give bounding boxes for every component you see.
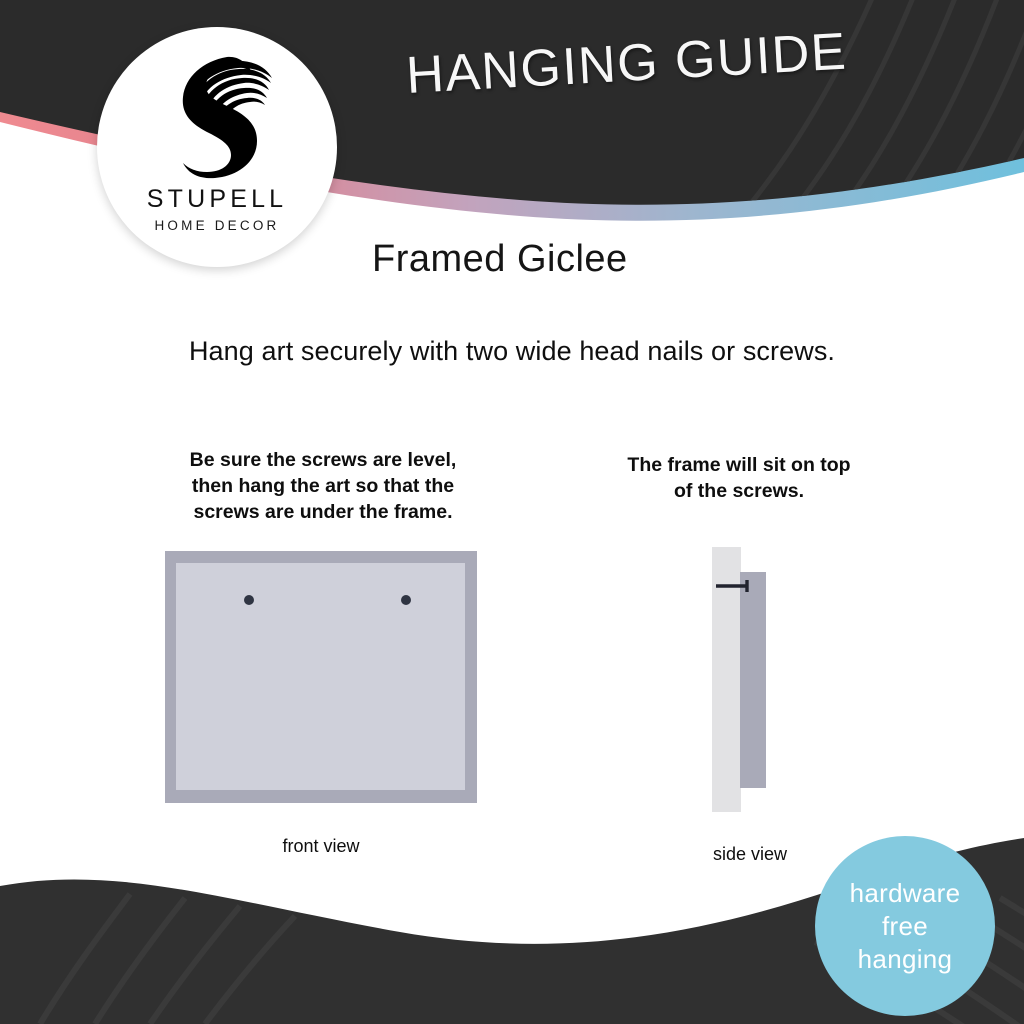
front-view-caption: front view: [190, 836, 452, 857]
screw-dot-left-icon: [244, 595, 254, 605]
badge-line-1: hardware: [850, 877, 961, 910]
brand-sub: HOME DECOR: [154, 219, 279, 233]
side-view-caption: side view: [640, 844, 860, 865]
product-title: Framed Giclee: [372, 238, 628, 281]
hanging-guide-page: HANGING GUIDE STUPELL HOME DECOR Framed …: [0, 0, 1024, 1024]
hardware-free-badge: hardware free hanging: [815, 836, 995, 1016]
side-view-frame: [740, 572, 766, 788]
badge-line-2: free: [882, 910, 928, 943]
front-view-note: Be sure the screws are level, then hang …: [158, 447, 488, 525]
brand-name: STUPELL: [147, 187, 288, 212]
side-view-note: The frame will sit on top of the screws.: [592, 452, 886, 504]
badge-line-3: hanging: [858, 943, 953, 976]
front-view-art-panel: [176, 563, 465, 790]
stupell-swirl-logo-icon: [159, 51, 275, 179]
screw-dot-right-icon: [401, 595, 411, 605]
nail-icon: [714, 578, 754, 594]
brand-logo-badge: STUPELL HOME DECOR: [97, 27, 337, 267]
main-instruction: Hang art securely with two wide head nai…: [0, 336, 1024, 367]
front-view-frame-diagram: [165, 551, 477, 803]
